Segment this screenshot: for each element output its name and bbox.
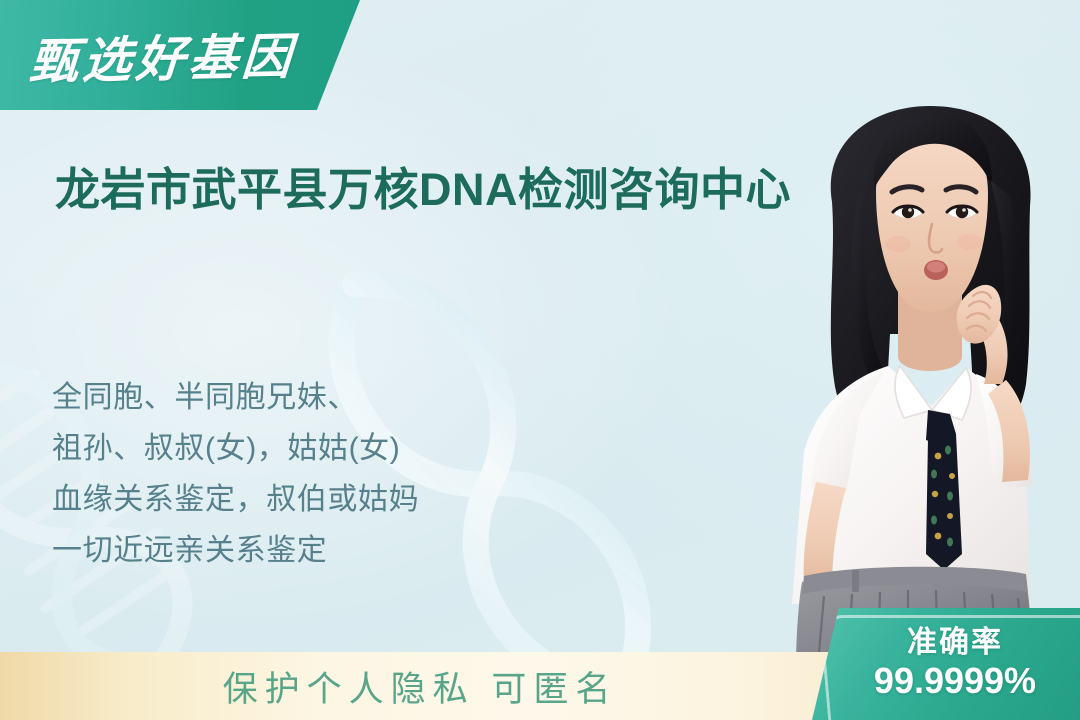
logo-badge-content: 甄选好基因 (0, 0, 360, 110)
model-photo (780, 84, 1080, 664)
service-line: 全同胞、半同胞兄妹、 (52, 372, 672, 423)
service-line: 一切近远亲关系鉴定 (52, 525, 672, 576)
service-line: 血缘关系鉴定，叔伯或姑妈 (52, 474, 672, 525)
service-line: 祖孙、叔叔(女)，姑姑(女) (52, 423, 672, 474)
service-description-list: 全同胞、半同胞兄妹、 祖孙、叔叔(女)，姑姑(女) 血缘关系鉴定，叔伯或姑妈 一… (52, 372, 672, 576)
accuracy-value: 99.9999% (874, 661, 1036, 701)
promo-banner: 甄选好基因 龙岩市武平县万核DNA检测咨询中心 全同胞、半同胞兄妹、 祖孙、叔叔… (0, 0, 1080, 720)
logo-text: 甄选好基因 (27, 17, 297, 94)
accuracy-label: 准确率 (907, 627, 1003, 659)
privacy-text: 保护个人隐私 可匿名 (223, 661, 618, 712)
accuracy-badge: 准确率 99.9999% (812, 608, 1080, 720)
page-title: 龙岩市武平县万核DNA检测咨询中心 (55, 160, 815, 219)
